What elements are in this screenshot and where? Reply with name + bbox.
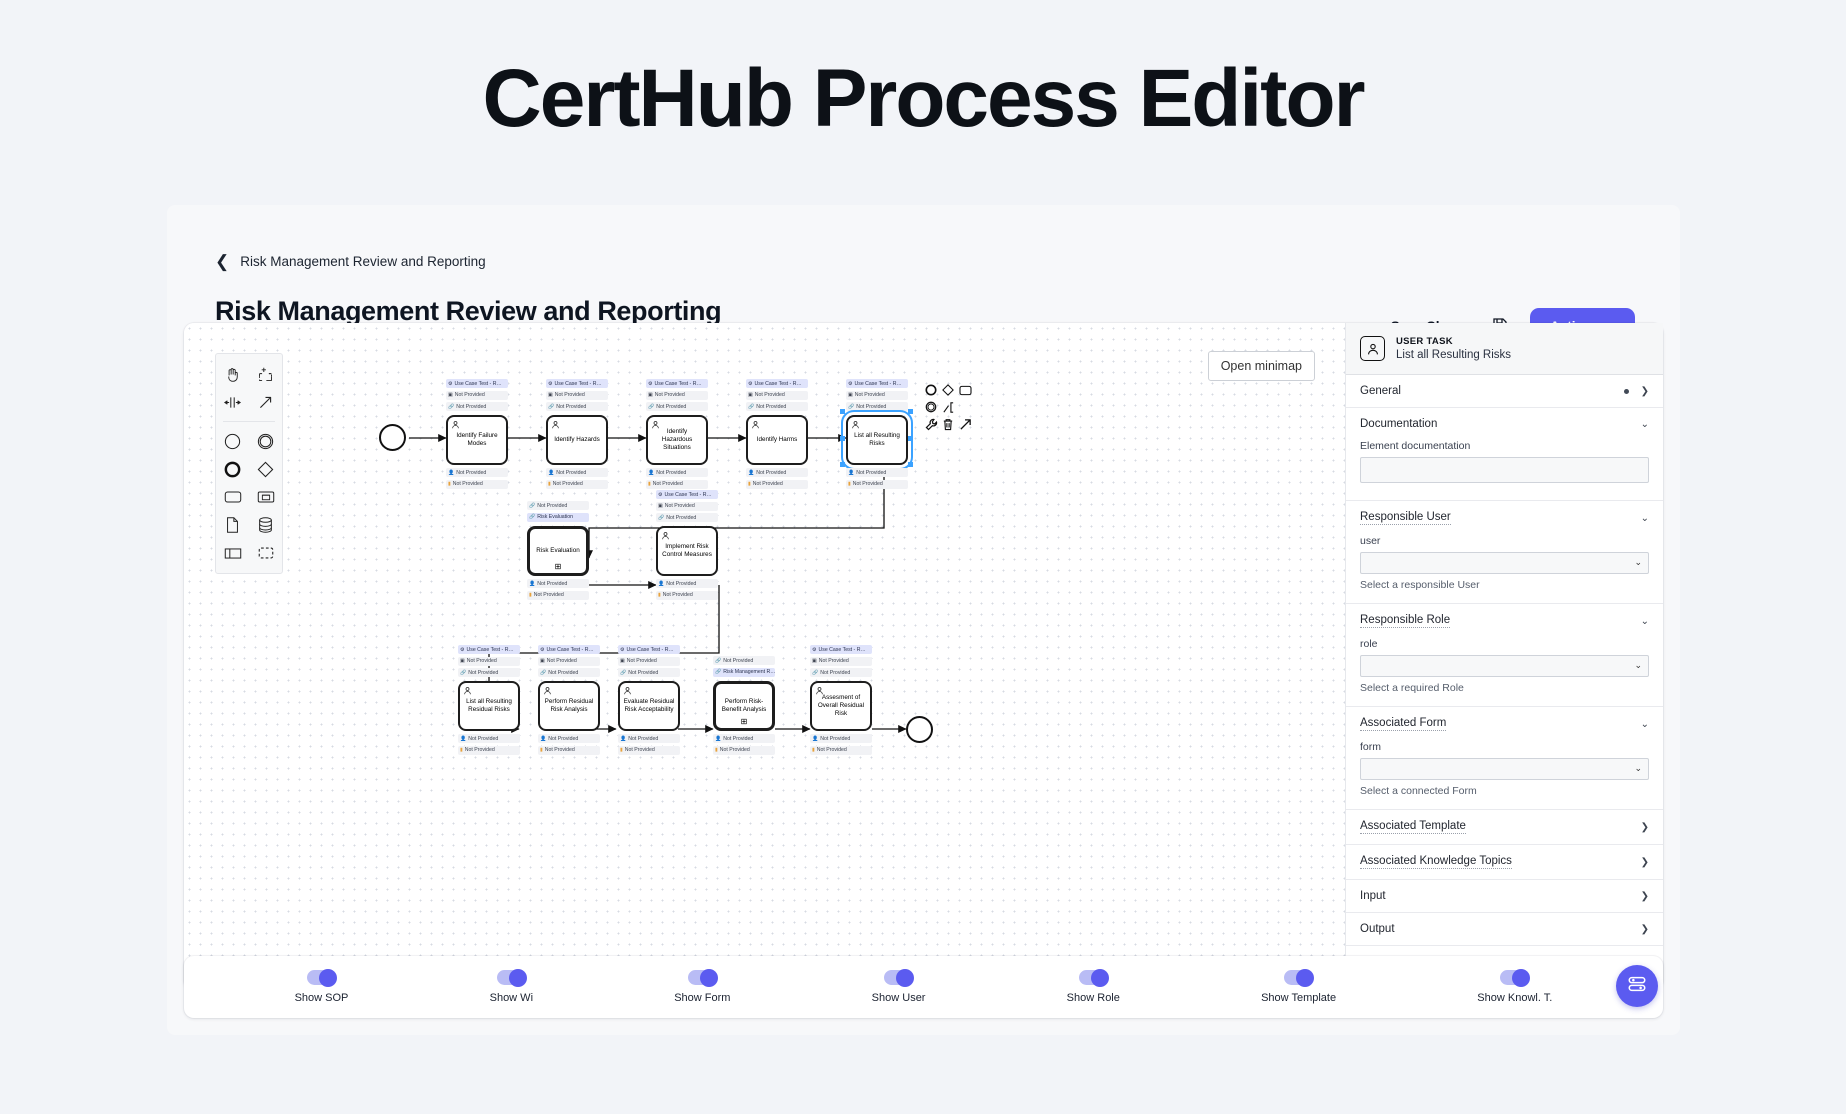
chevron-down-icon[interactable]: ⌄ (1641, 513, 1649, 524)
sop-icon: ⚙ (448, 381, 452, 387)
sop-icon: ⚙ (620, 647, 624, 653)
badge-wi: 🔗Not Provided (646, 402, 708, 411)
property-group-associated-knowledge-topics: Associated Knowledge Topics ❯ (1346, 845, 1663, 880)
resize-handle-sw[interactable] (840, 462, 845, 467)
bpmn-node-list-all-resulting-risks[interactable]: ⚙Use Case Test - R… ▣Not Provided 🔗Not P… (846, 379, 908, 465)
subprocess-marker-icon: ⊞ (741, 718, 748, 726)
property-group-general: General ❯ (1346, 375, 1663, 408)
badge-user: 👤Not Provided (746, 468, 808, 477)
link-icon: 🔗 (648, 404, 654, 410)
lasso-tool-icon[interactable] (249, 360, 282, 388)
link-icon: 🔗 (529, 503, 535, 509)
properties-header: USER TASK List all Resulting Risks (1346, 323, 1663, 375)
badge-user: 👤Not Provided (810, 734, 872, 743)
badge-wi: 🔗Not Provided (746, 402, 808, 411)
toggle-label: Show Template (1261, 992, 1336, 1004)
space-tool-icon[interactable] (216, 388, 249, 416)
field-hint: Select a connected Form (1360, 785, 1649, 797)
doc-icon: ▣ (748, 392, 753, 398)
palette-divider (223, 421, 275, 422)
field-hint: Select a responsible User (1360, 579, 1649, 591)
field-label: form (1360, 741, 1649, 753)
append-end-event-icon[interactable] (924, 383, 938, 397)
sop-icon: ⚙ (848, 381, 852, 387)
tag-icon: ▮ (812, 747, 815, 753)
wrench-icon[interactable] (924, 417, 938, 431)
property-group-output-header[interactable]: Output ❯ (1346, 913, 1663, 945)
toggle-show-wi[interactable]: Show Wi (490, 970, 533, 1004)
gateway-icon[interactable] (249, 455, 282, 483)
append-task-icon[interactable] (958, 383, 972, 397)
badge-use-case: ⚙Use Case Test - R… (546, 379, 608, 388)
participant-icon[interactable] (216, 539, 249, 567)
person-icon: 👤 (448, 470, 454, 476)
badge-use-case: ⚙Use Case Test - R… (810, 645, 872, 654)
element-type: USER TASK (1396, 336, 1511, 347)
app-window: ❮ Risk Management Review and Reporting R… (167, 205, 1680, 1035)
person-icon: 👤 (460, 736, 466, 742)
link-icon: 🔗 (529, 514, 535, 520)
badge-use-case: ⚙Use Case Test - R… (646, 379, 708, 388)
group-label: Responsible User (1360, 511, 1451, 525)
user-task-icon (1360, 336, 1385, 361)
bpmn-canvas[interactable]: Open minimap BPMN.iO (184, 323, 1345, 990)
property-group-documentation: Documentation ⌄ Element documentation (1346, 408, 1663, 501)
badge-role: ▮Not Provided (846, 480, 908, 489)
link-icon: 🔗 (448, 404, 454, 410)
node-label: Identify Failure Modes (451, 432, 503, 449)
sop-icon: ⚙ (648, 381, 652, 387)
badge-wi: 🔗Not Provided (546, 402, 608, 411)
chevron-right-icon[interactable]: ❯ (1641, 857, 1649, 868)
badge-role: ▮Not Provided (546, 480, 608, 489)
property-group-associated-form-header[interactable]: Associated Form ⌄ (1346, 707, 1663, 741)
badge-use-case: ⚙Use Case Test - R… (618, 645, 680, 654)
badge-use-case: ⚙Use Case Test - R… (846, 379, 908, 388)
link-icon: 🔗 (548, 404, 554, 410)
badge-user: 👤Not Provided (713, 734, 775, 743)
toggle-switch[interactable] (497, 970, 526, 985)
badge-user: 👤Not Provided (446, 468, 508, 477)
user-task-icon (815, 686, 824, 695)
badge-wi: 🔗Not Provided (656, 513, 718, 522)
property-group-responsible-user-header[interactable]: Responsible User ⌄ (1346, 501, 1663, 535)
tag-icon: ▮ (540, 747, 543, 753)
sop-icon: ⚙ (540, 647, 544, 653)
bpmn-node-risk-evaluation[interactable]: 🔗Not Provided 🔗Risk Evaluation Risk Eval… (527, 501, 589, 576)
tag-icon: ▮ (658, 592, 661, 598)
property-group-associated-template: Associated Template ❯ (1346, 810, 1663, 845)
tag-icon: ▮ (748, 481, 751, 487)
badge-sop: 🔗Not Provided (527, 501, 589, 510)
badge-role: ▮Not Provided (746, 480, 808, 489)
badge-user: 👤Not Provided (546, 468, 608, 477)
delete-icon[interactable] (941, 417, 955, 431)
bpmn-node-perform-residual-risk-analysis[interactable]: ⚙Use Case Test - R… ▣Not Provided 🔗Not P… (538, 645, 600, 731)
tag-icon: ▮ (648, 481, 651, 487)
breadcrumb-label: Risk Management Review and Reporting (240, 254, 485, 269)
field-label: Element documentation (1360, 440, 1649, 452)
toggle-label: Show Knowl. T. (1477, 992, 1552, 1004)
property-group-responsible-role: Responsible Role ⌄ role ⌄ Select a requi… (1346, 604, 1663, 707)
toggle-switch[interactable] (1079, 970, 1108, 985)
badge-sop: ▣Not Provided (538, 657, 600, 666)
bpmn-node-identify-hazards[interactable]: ⚙Use Case Test - R… ▣Not Provided 🔗Not P… (546, 379, 608, 465)
badge-role: ▮Not Provided (810, 746, 872, 755)
link-icon: 🔗 (848, 404, 854, 410)
user-task-icon (451, 420, 460, 429)
toggle-switch[interactable] (1284, 970, 1313, 985)
properties-panel: USER TASK List all Resulting Risks Gener… (1345, 323, 1663, 990)
user-task-icon (651, 420, 660, 429)
toggle-switch[interactable] (884, 970, 913, 985)
node-label: Perform Residual Risk Analysis (543, 698, 595, 715)
person-icon: 👤 (748, 470, 754, 476)
badge-wi: 🔗Not Provided (810, 668, 872, 677)
chevron-right-icon[interactable]: ❯ (1641, 386, 1649, 397)
badge-role: ▮Not Provided (646, 480, 708, 489)
badge-risk-management: 🔗Risk Management R… (713, 668, 775, 677)
field-hint: Select a required Role (1360, 682, 1649, 694)
badge-sop: ▣Not Provided (646, 391, 708, 400)
toggle-show-template[interactable]: Show Template (1261, 970, 1336, 1004)
badge-use-case: ⚙Use Case Test - R… (458, 645, 520, 654)
open-minimap-button[interactable]: Open minimap (1208, 351, 1315, 381)
resize-handle-w[interactable] (840, 436, 845, 441)
append-intermediate-event-icon[interactable] (924, 400, 938, 414)
chevron-down-icon[interactable]: ⌄ (1641, 616, 1649, 627)
property-group-general-header[interactable]: General ❯ (1346, 375, 1663, 407)
badge-use-case: ⚙Use Case Test - R… (538, 645, 600, 654)
badge-use-case: ⚙Use Case Test - R… (746, 379, 808, 388)
badge-sop: 🔗Not Provided (713, 656, 775, 665)
group-label: Documentation (1360, 418, 1437, 430)
task-icon[interactable] (216, 483, 249, 511)
connect-tool-icon[interactable] (249, 388, 282, 416)
group-label: Responsible Role (1360, 614, 1450, 628)
doc-icon: ▣ (460, 658, 465, 664)
node-label: List all Resulting Residual Risks (463, 698, 515, 715)
tag-icon: ▮ (848, 481, 851, 487)
bpmn-node-identify-harms[interactable]: ⚙Use Case Test - R… ▣Not Provided 🔗Not P… (746, 379, 808, 465)
badge-use-case: ⚙Use Case Test - R… (656, 490, 718, 499)
status-dot-icon (1624, 389, 1629, 394)
user-task-icon (623, 686, 632, 695)
badge-use-case: ⚙Use Case Test - R… (446, 379, 508, 388)
doc-icon: ▣ (448, 392, 453, 398)
link-icon: 🔗 (715, 658, 721, 664)
chevron-right-icon[interactable]: ❯ (1641, 924, 1649, 935)
sliders-icon (1627, 974, 1647, 999)
doc-icon: ▣ (620, 658, 625, 664)
badge-wi: 🔗Not Provided (446, 402, 508, 411)
tag-icon: ▮ (448, 481, 451, 487)
badge-user: 👤Not Provided (646, 468, 708, 477)
toggle-show-sop[interactable]: Show SOP (295, 970, 349, 1004)
database-icon[interactable] (249, 511, 282, 539)
badge-user: 👤Not Provided (527, 579, 589, 588)
link-icon: 🔗 (460, 670, 466, 676)
sop-icon: ⚙ (658, 492, 662, 498)
tag-icon: ▮ (529, 592, 532, 598)
bpmn-node-identify-hazardous-situations[interactable]: ⚙Use Case Test - R… ▣Not Provided 🔗Not P… (646, 379, 708, 465)
property-group-input-header[interactable]: Input ❯ (1346, 880, 1663, 912)
person-icon: 👤 (529, 581, 535, 587)
group-label: Associated Template (1360, 820, 1466, 834)
doc-icon: ▣ (658, 503, 663, 509)
link-icon: 🔗 (540, 670, 546, 676)
badge-user: 👤Not Provided (618, 734, 680, 743)
doc-icon: ▣ (812, 658, 817, 664)
toggle-label: Show User (872, 992, 926, 1004)
property-group-associated-knowledge-topics-header[interactable]: Associated Knowledge Topics ❯ (1346, 845, 1663, 879)
field-label: role (1360, 638, 1649, 650)
element-name: List all Resulting Risks (1396, 349, 1511, 361)
visibility-toggle-bar: Show SOP Show Wi Show Form Show User Sho… (184, 956, 1663, 1018)
node-label: Risk Evaluation (536, 547, 579, 555)
settings-fab-button[interactable] (1616, 965, 1658, 1007)
toggle-label: Show Wi (490, 992, 533, 1004)
node-label: Identify Harms (757, 436, 798, 444)
resize-handle-e[interactable] (908, 436, 913, 441)
group-label: Associated Form (1360, 717, 1446, 731)
person-icon: 👤 (848, 470, 854, 476)
selected-task: List all Resulting Risks (846, 415, 908, 465)
badge-role: ▮Not Provided (527, 591, 589, 600)
append-text-annotation-icon[interactable] (941, 400, 955, 414)
toggle-label: Show Form (674, 992, 730, 1004)
tag-icon: ▮ (620, 747, 623, 753)
group-label: Output (1360, 923, 1395, 935)
badge-role: ▮Not Provided (656, 591, 718, 600)
badge-user: 👤Not Provided (846, 468, 908, 477)
tag-icon: ▮ (548, 481, 551, 487)
user-task-icon (551, 420, 560, 429)
resize-handle-ne[interactable] (908, 409, 913, 414)
person-icon: 👤 (548, 470, 554, 476)
badge-sop: ▣Not Provided (746, 391, 808, 400)
node-label: Evaluate Residual Risk Acceptability (623, 698, 675, 715)
bpmn-node-assesment-of-overall-residual-risk[interactable]: ⚙Use Case Test - R… ▣Not Provided 🔗Not P… (810, 645, 872, 731)
doc-icon: ▣ (648, 392, 653, 398)
breadcrumb[interactable]: ❮ Risk Management Review and Reporting (167, 205, 486, 270)
doc-icon: ▣ (548, 392, 553, 398)
link-icon: 🔗 (812, 670, 818, 676)
badge-wi: 🔗Not Provided (458, 668, 520, 677)
data-store-icon[interactable] (249, 483, 282, 511)
editor-card: Open minimap BPMN.iO (184, 323, 1663, 990)
context-pad[interactable] (924, 383, 972, 431)
badge-wi: 🔗Not Provided (618, 668, 680, 677)
toggle-show-user[interactable]: Show User (872, 970, 926, 1004)
tag-icon: ▮ (715, 747, 718, 753)
link-icon: 🔗 (748, 404, 754, 410)
element-documentation-textarea[interactable] (1360, 457, 1649, 483)
property-group-associated-template-header[interactable]: Associated Template ❯ (1346, 810, 1663, 844)
node-label: Identify Hazards (554, 436, 600, 444)
bpmn-palette[interactable] (215, 353, 283, 574)
link-icon: 🔗 (620, 670, 626, 676)
badge-sop: ▣Not Provided (618, 657, 680, 666)
sop-icon: ⚙ (460, 647, 464, 653)
chevron-left-icon[interactable]: ❮ (215, 253, 229, 270)
group-label: Associated Knowledge Topics (1360, 855, 1512, 869)
chevron-right-icon[interactable]: ❯ (1641, 822, 1649, 833)
badge-user: 👤Not Provided (656, 579, 718, 588)
chevron-down-icon[interactable]: ⌄ (1641, 719, 1649, 730)
badge-sop: ▣Not Provided (546, 391, 608, 400)
bpmn-node-list-all-resulting-residual-risks[interactable]: ⚙Use Case Test - R… ▣Not Provided 🔗Not P… (458, 645, 520, 731)
end-event-icon[interactable] (216, 455, 249, 483)
toggle-switch[interactable] (1500, 970, 1529, 985)
link-icon: 🔗 (715, 669, 721, 675)
link-icon: 🔗 (658, 515, 664, 521)
subprocess-marker-icon: ⊞ (555, 563, 562, 571)
toggle-switch[interactable] (307, 970, 336, 985)
toggle-show-knowledge-topics[interactable]: Show Knowl. T. (1477, 970, 1552, 1004)
user-task-icon (543, 686, 552, 695)
user-task-icon (751, 420, 760, 429)
property-group-output: Output ❯ (1346, 913, 1663, 946)
toggle-show-role[interactable]: Show Role (1067, 970, 1120, 1004)
chevron-down-icon[interactable]: ⌄ (1641, 419, 1649, 430)
badge-risk-evaluation: 🔗Risk Evaluation (527, 513, 589, 522)
badge-wi: 🔗Not Provided (538, 668, 600, 677)
user-task-icon (851, 420, 860, 429)
start-event-icon[interactable] (216, 427, 249, 455)
resize-handle-nw[interactable] (840, 409, 845, 414)
tag-icon: ▮ (460, 747, 463, 753)
bpmn-node-perform-risk-benefit-analysis[interactable]: 🔗Not Provided 🔗Risk Management R… Perfor… (713, 656, 775, 731)
chevron-right-icon[interactable]: ❯ (1641, 891, 1649, 902)
toggle-show-form[interactable]: Show Form (674, 970, 730, 1004)
group-label: General (1360, 385, 1401, 397)
badge-role: ▮Not Provided (538, 746, 600, 755)
sop-icon: ⚙ (748, 381, 752, 387)
person-icon: 👤 (658, 581, 664, 587)
connect-icon[interactable] (958, 417, 972, 431)
node-label: Implement Risk Control Measures (661, 543, 713, 560)
user-task-icon (463, 686, 472, 695)
sop-icon: ⚙ (812, 647, 816, 653)
doc-icon: ▣ (848, 392, 853, 398)
toggle-switch[interactable] (688, 970, 717, 985)
data-object-icon[interactable] (216, 511, 249, 539)
user-task-icon (661, 531, 670, 540)
badge-sop: ▣Not Provided (810, 657, 872, 666)
bpmn-node-identify-failure-modes[interactable]: ⚙Use Case Test - R… ▣Not Provided 🔗Not P… (446, 379, 508, 465)
field-label: user (1360, 535, 1649, 547)
end-event[interactable] (906, 716, 933, 743)
badge-sop: ▣Not Provided (458, 657, 520, 666)
badge-user: 👤Not Provided (458, 734, 520, 743)
badge-sop: ▣Not Provided (446, 391, 508, 400)
start-event[interactable] (379, 424, 406, 451)
toggle-label: Show Role (1067, 992, 1120, 1004)
bpmn-node-implement-risk-control-measures[interactable]: ⚙Use Case Test - R… ▣Not Provided 🔗Not P… (656, 490, 718, 576)
node-label: Perform Risk-Benefit Analysis (719, 698, 769, 715)
person-icon: 👤 (812, 736, 818, 742)
badge-role: ▮Not Provided (713, 746, 775, 755)
badge-sop: ▣Not Provided (656, 502, 718, 511)
node-label: Identify Hazardous Situations (651, 428, 703, 453)
badge-role: ▮Not Provided (618, 746, 680, 755)
badge-user: 👤Not Provided (538, 734, 600, 743)
resize-handle-se[interactable] (908, 462, 913, 467)
toggle-label: Show SOP (295, 992, 349, 1004)
page-title: CertHub Process Editor (0, 0, 1846, 146)
group-icon[interactable] (249, 539, 282, 567)
responsible-role-select[interactable] (1360, 655, 1649, 677)
property-group-input: Input ❯ (1346, 880, 1663, 913)
property-group-responsible-user: Responsible User ⌄ user ⌄ Select a respo… (1346, 501, 1663, 604)
person-icon: 👤 (715, 736, 721, 742)
hand-tool-icon[interactable] (216, 360, 249, 388)
badge-role: ▮Not Provided (446, 480, 508, 489)
badge-role: ▮Not Provided (458, 746, 520, 755)
bpmn-node-evaluate-residual-risk-acceptability[interactable]: ⚙Use Case Test - R… ▣Not Provided 🔗Not P… (618, 645, 680, 731)
append-gateway-icon[interactable] (941, 383, 955, 397)
person-icon: 👤 (648, 470, 654, 476)
doc-icon: ▣ (540, 658, 545, 664)
property-group-associated-form: Associated Form ⌄ form ⌄ Select a connec… (1346, 707, 1663, 810)
responsible-user-select[interactable] (1360, 552, 1649, 574)
node-label: Assesment of Overall Residual Risk (815, 694, 867, 719)
group-label: Input (1360, 890, 1386, 902)
badge-wi: 🔗Not Provided (846, 402, 908, 411)
person-icon: 👤 (540, 736, 546, 742)
sop-icon: ⚙ (548, 381, 552, 387)
person-icon: 👤 (620, 736, 626, 742)
property-group-responsible-role-header[interactable]: Responsible Role ⌄ (1346, 604, 1663, 638)
badge-sop: ▣Not Provided (846, 391, 908, 400)
property-group-documentation-header[interactable]: Documentation ⌄ (1346, 408, 1663, 440)
node-label: List all Resulting Risks (851, 432, 903, 449)
associated-form-select[interactable] (1360, 758, 1649, 780)
intermediate-event-icon[interactable] (249, 427, 282, 455)
